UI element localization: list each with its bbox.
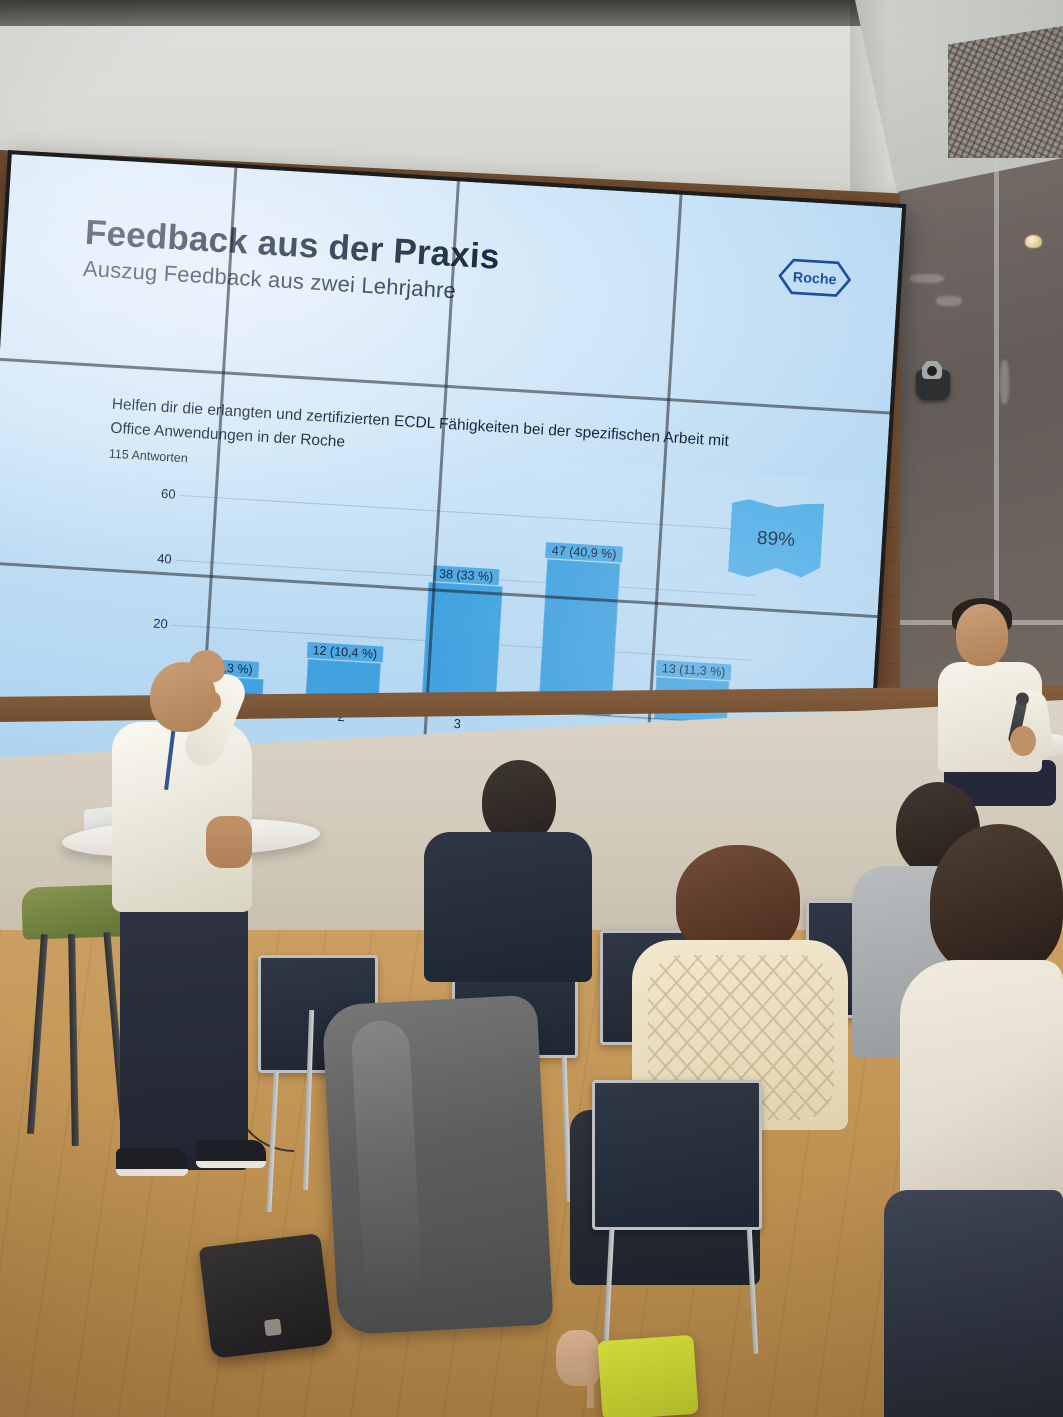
lime-green-handbag — [597, 1335, 698, 1417]
glass-reflection — [936, 296, 962, 306]
shoe — [556, 1330, 600, 1386]
chart-bar-label: 13 (11,3 %) — [655, 660, 732, 681]
presentation-room-photo: Feedback aus der Praxis Auszug Feedback … — [0, 0, 1063, 1417]
ceiling-grille-icon — [948, 26, 1063, 158]
chart-bar-label: 12 (10,4 %) — [306, 642, 383, 663]
presenter-head — [150, 662, 216, 732]
presenter2-hand — [1010, 726, 1036, 756]
y-axis-tick-label: 20 — [133, 614, 168, 631]
highlight-badge-value: 89% — [756, 528, 795, 552]
glass-reflection — [910, 274, 944, 283]
y-axis-tick-label: 40 — [137, 550, 172, 567]
audience-torso — [900, 960, 1063, 1220]
roche-logo: Roche — [777, 257, 853, 299]
audience-legs — [884, 1190, 1063, 1417]
presenter-forearm — [206, 816, 252, 868]
wall-light-icon — [1025, 235, 1042, 248]
presenter-shoe — [116, 1148, 188, 1176]
wall-shadow — [850, 0, 890, 200]
chart-bar-column: 12 (10,4 %) — [293, 502, 403, 703]
audience-chair-foreground[interactable] — [592, 1080, 762, 1230]
presenter-legs — [120, 900, 248, 1170]
chart-bar-label: 47 (40,9 %) — [545, 542, 622, 563]
audience-torso — [424, 832, 592, 982]
ptz-camera-icon — [916, 370, 950, 400]
chart-bar-label: 38 (33 %) — [433, 565, 500, 585]
svg-text:Roche: Roche — [792, 270, 837, 289]
door-handle[interactable] — [1000, 360, 1009, 404]
presenter-shoe — [196, 1140, 266, 1168]
grey-coat-on-chair — [322, 995, 554, 1336]
audience-hair — [930, 824, 1063, 974]
chart-bar-column: 47 (40,9 %) — [525, 516, 635, 717]
presenter2-head — [956, 604, 1008, 666]
presenter-ear — [207, 692, 221, 712]
black-messenger-bag — [199, 1233, 334, 1359]
chart-bar-column: 38 (33 %) — [409, 509, 519, 710]
y-axis-tick-label: 60 — [141, 485, 176, 502]
